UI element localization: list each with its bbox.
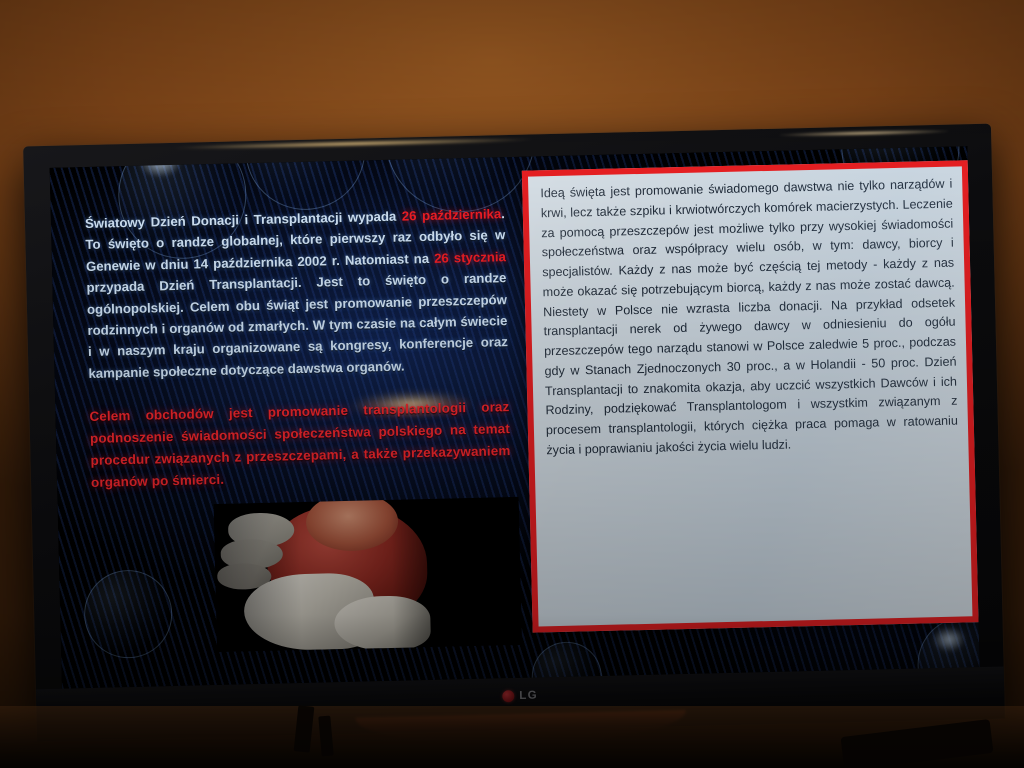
lg-mark-icon [502, 690, 514, 702]
room-scene: Światowy Dzień Donacji i Transplantacji … [0, 0, 1024, 768]
lg-wordmark: LG [519, 690, 538, 702]
paragraph-run: przypada Dzień Transplantacji. Jest to ś… [86, 270, 508, 380]
intro-paragraph: Światowy Dzień Donacji i Transplantacji … [85, 203, 509, 384]
date-accent: 26 października [402, 206, 502, 223]
date-accent: 26 stycznia [434, 249, 506, 266]
paragraph-run: Światowy Dzień Donacji i Transplantacji … [85, 209, 402, 231]
tv-screen: Światowy Dzień Donacji i Transplantacji … [50, 146, 980, 688]
heart-photo [214, 497, 522, 652]
television: Światowy Dzień Donacji i Transplantacji … [23, 124, 1005, 742]
purpose-paragraph: Celem obchodów jest promowanie transplan… [89, 396, 511, 494]
left-text-column: Światowy Dzień Donacji i Transplantacji … [85, 203, 512, 494]
bezel-highlight-left-icon [173, 136, 533, 150]
right-text-panel: Ideą święta jest promowanie świadomego d… [522, 160, 979, 632]
bezel-highlight-right-icon [779, 129, 949, 138]
lg-logo: LG [502, 690, 538, 703]
panel-paragraph: Ideą święta jest promowanie świadomego d… [540, 175, 958, 461]
